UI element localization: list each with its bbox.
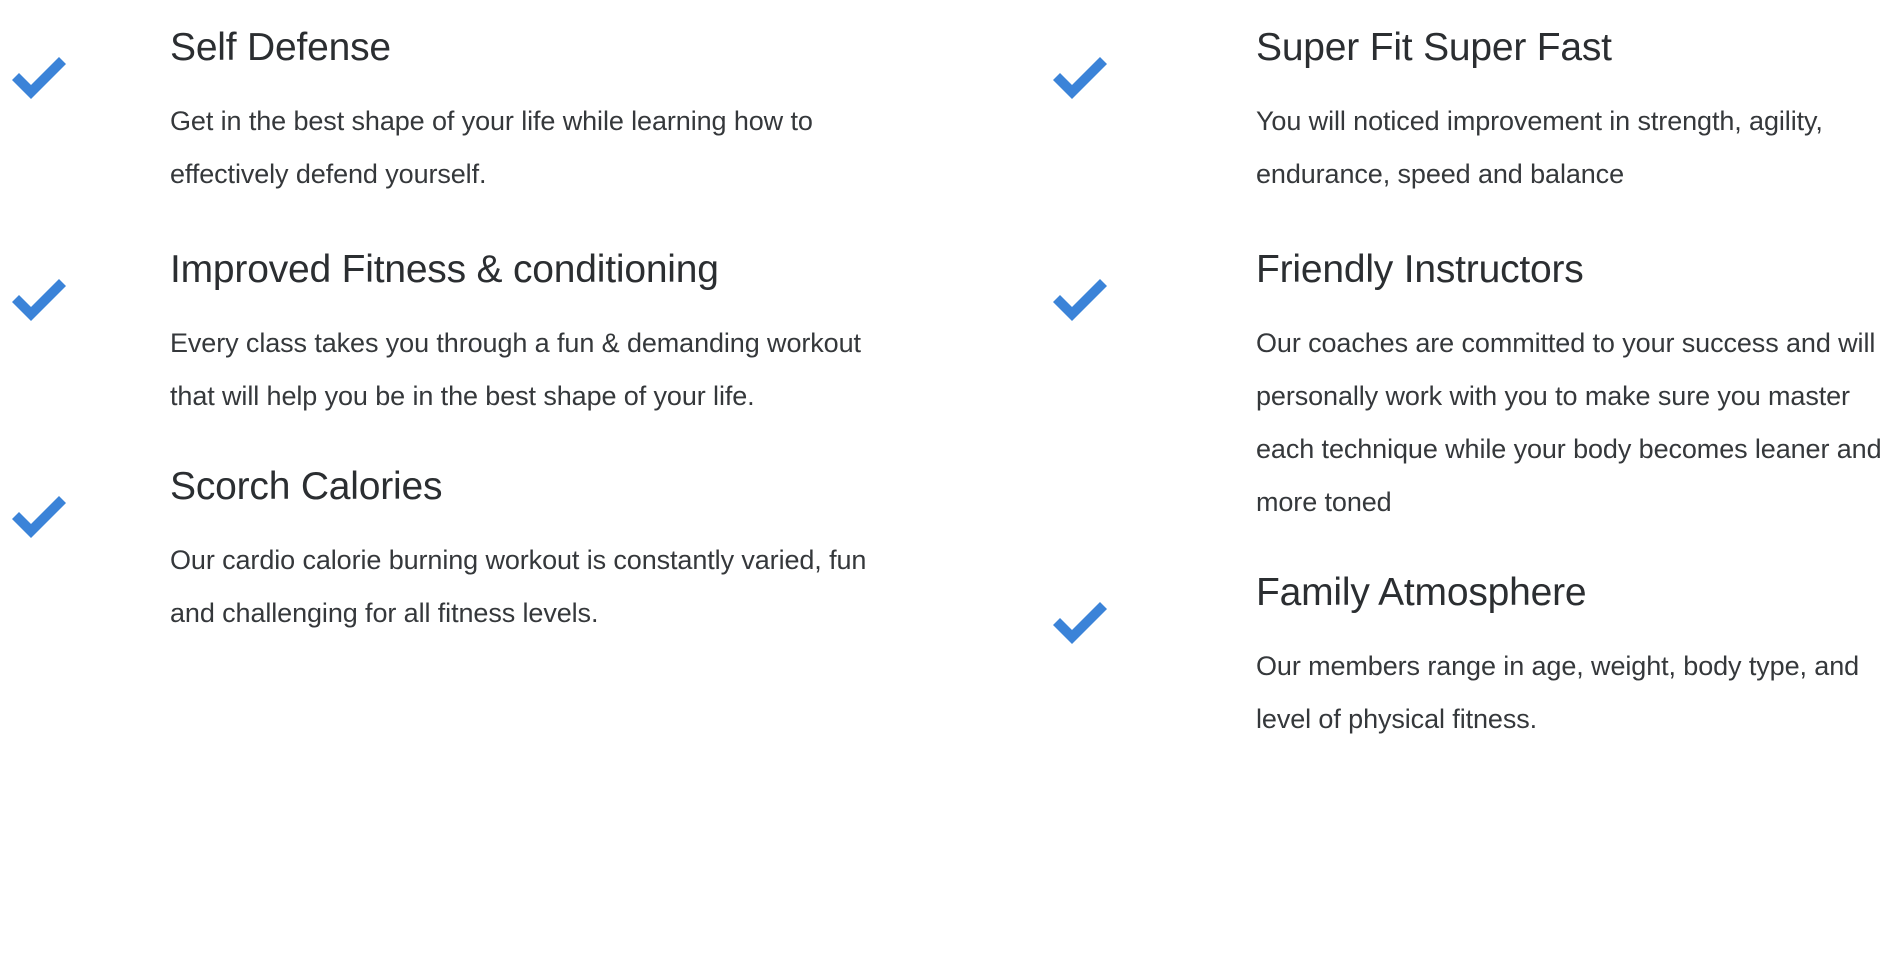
feature-description: Every class takes you through a fun & de…	[170, 317, 870, 423]
feature-item: Self Defense Get in the best shape of yo…	[0, 22, 1040, 201]
check-icon	[8, 491, 74, 541]
check-icon	[8, 274, 74, 324]
check-icon	[1049, 52, 1115, 102]
feature-heading: Friendly Instructors	[1256, 244, 1904, 296]
features-section: Self Defense Get in the best shape of yo…	[0, 0, 1904, 966]
feature-item: Family Atmosphere Our members range in a…	[1040, 567, 1904, 746]
check-icon	[1049, 597, 1115, 647]
feature-item: Super Fit Super Fast You will noticed im…	[1040, 22, 1904, 201]
feature-description: Get in the best shape of your life while…	[170, 95, 870, 201]
feature-item: Friendly Instructors Our coaches are com…	[1040, 244, 1904, 529]
feature-text: Super Fit Super Fast You will noticed im…	[1115, 22, 1904, 201]
feature-text: Family Atmosphere Our members range in a…	[1115, 567, 1904, 746]
feature-heading: Super Fit Super Fast	[1256, 22, 1904, 74]
feature-column-left: Self Defense Get in the best shape of yo…	[0, 0, 1040, 640]
feature-description: You will noticed improvement in strength…	[1256, 95, 1904, 201]
feature-description: Our cardio calorie burning workout is co…	[170, 534, 870, 640]
feature-text: Improved Fitness & conditioning Every cl…	[74, 244, 870, 423]
feature-heading: Scorch Calories	[170, 461, 870, 513]
feature-heading: Improved Fitness & conditioning	[170, 244, 870, 296]
feature-heading: Family Atmosphere	[1256, 567, 1904, 619]
feature-text: Self Defense Get in the best shape of yo…	[74, 22, 870, 201]
feature-item: Improved Fitness & conditioning Every cl…	[0, 244, 1040, 423]
check-icon	[8, 52, 74, 102]
feature-text: Scorch Calories Our cardio calorie burni…	[74, 461, 870, 640]
check-icon	[1049, 274, 1115, 324]
feature-column-right: Super Fit Super Fast You will noticed im…	[1040, 0, 1904, 746]
feature-description: Our coaches are committed to your succes…	[1256, 317, 1904, 529]
feature-description: Our members range in age, weight, body t…	[1256, 640, 1904, 746]
feature-text: Friendly Instructors Our coaches are com…	[1115, 244, 1904, 529]
feature-item: Scorch Calories Our cardio calorie burni…	[0, 461, 1040, 640]
feature-heading: Self Defense	[170, 22, 870, 74]
